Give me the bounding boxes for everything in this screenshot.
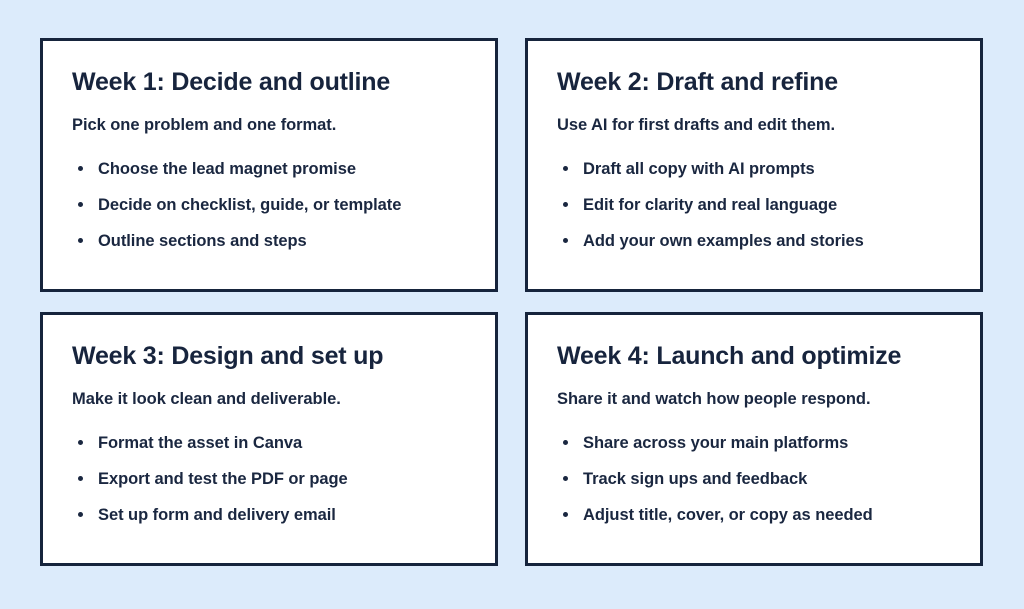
card-bullet-list: Draft all copy with AI prompts Edit for …: [557, 158, 952, 252]
list-item-label: Set up form and delivery email: [98, 506, 336, 524]
bullet-dot-icon: [78, 202, 83, 207]
list-item-label: Edit for clarity and real language: [583, 196, 837, 214]
bullet-dot-icon: [78, 166, 83, 171]
list-item: Share across your main platforms: [557, 432, 952, 454]
list-item: Adjust title, cover, or copy as needed: [557, 504, 952, 526]
card-bullet-list: Choose the lead magnet promise Decide on…: [72, 158, 467, 252]
list-item-label: Export and test the PDF or page: [98, 470, 348, 488]
list-item: Export and test the PDF or page: [72, 468, 467, 490]
bullet-dot-icon: [563, 202, 568, 207]
card-bullet-list: Share across your main platforms Track s…: [557, 432, 952, 526]
list-item-label: Track sign ups and feedback: [583, 470, 807, 488]
card-subtitle: Pick one problem and one format.: [72, 114, 467, 136]
list-item: Track sign ups and feedback: [557, 468, 952, 490]
card-title: Week 3: Design and set up: [72, 341, 467, 371]
week-card-2: Week 2: Draft and refine Use AI for firs…: [525, 38, 983, 292]
list-item-label: Share across your main platforms: [583, 434, 848, 452]
list-item-label: Outline sections and steps: [98, 232, 307, 250]
list-item-label: Decide on checklist, guide, or template: [98, 196, 401, 214]
list-item-label: Choose the lead magnet promise: [98, 160, 356, 178]
bullet-dot-icon: [563, 166, 568, 171]
list-item-label: Add your own examples and stories: [583, 232, 864, 250]
list-item: Decide on checklist, guide, or template: [72, 194, 467, 216]
bullet-dot-icon: [78, 512, 83, 517]
bullet-dot-icon: [563, 238, 568, 243]
list-item: Choose the lead magnet promise: [72, 158, 467, 180]
list-item: Format the asset in Canva: [72, 432, 467, 454]
week-card-4: Week 4: Launch and optimize Share it and…: [525, 312, 983, 566]
bullet-dot-icon: [563, 512, 568, 517]
card-title: Week 4: Launch and optimize: [557, 341, 952, 371]
list-item: Add your own examples and stories: [557, 230, 952, 252]
week-plan-board: Week 1: Decide and outline Pick one prob…: [0, 0, 1024, 609]
list-item-label: Adjust title, cover, or copy as needed: [583, 506, 873, 524]
card-title: Week 2: Draft and refine: [557, 67, 952, 97]
list-item-label: Draft all copy with AI prompts: [583, 160, 815, 178]
list-item: Set up form and delivery email: [72, 504, 467, 526]
week-card-1: Week 1: Decide and outline Pick one prob…: [40, 38, 498, 292]
card-subtitle: Share it and watch how people respond.: [557, 388, 952, 410]
card-title: Week 1: Decide and outline: [72, 67, 467, 97]
bullet-dot-icon: [78, 476, 83, 481]
list-item: Edit for clarity and real language: [557, 194, 952, 216]
bullet-dot-icon: [563, 476, 568, 481]
list-item-label: Format the asset in Canva: [98, 434, 302, 452]
card-subtitle: Use AI for first drafts and edit them.: [557, 114, 952, 136]
week-card-3: Week 3: Design and set up Make it look c…: [40, 312, 498, 566]
list-item: Outline sections and steps: [72, 230, 467, 252]
bullet-dot-icon: [563, 440, 568, 445]
card-bullet-list: Format the asset in Canva Export and tes…: [72, 432, 467, 526]
list-item: Draft all copy with AI prompts: [557, 158, 952, 180]
card-subtitle: Make it look clean and deliverable.: [72, 388, 467, 410]
bullet-dot-icon: [78, 238, 83, 243]
bullet-dot-icon: [78, 440, 83, 445]
